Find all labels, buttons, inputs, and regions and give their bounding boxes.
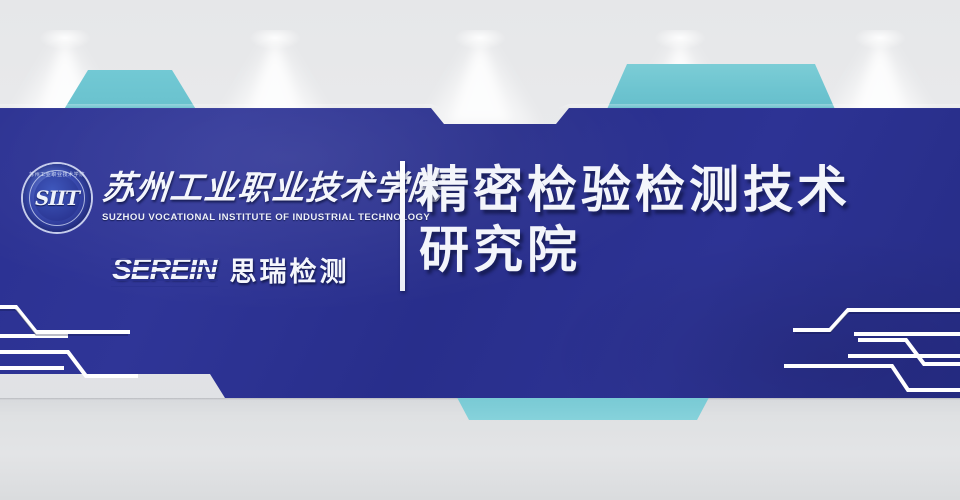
university-name-cn: 苏州工业职业技术学院 xyxy=(100,166,394,210)
headline-line-2: 研究院 xyxy=(419,220,949,280)
serein-name-cn: 思瑞检测 xyxy=(230,250,350,289)
backdrop-scene: 苏州工业职业技术学院 SIIT 苏州工业职业技术学院 SUZHOU VOCATI… xyxy=(0,0,960,500)
emblem-monogram: SIIT xyxy=(23,186,91,210)
emblem-arc-top: 苏州工业职业技术学院 xyxy=(23,171,91,178)
vertical-divider-bar xyxy=(400,161,405,291)
university-name-en: SUZHOU VOCATIONAL INSTITUTE OF INDUSTRIA… xyxy=(102,212,402,223)
serein-brand-lockup: SEREIN思瑞检测 xyxy=(112,250,392,288)
university-emblem-icon: 苏州工业职业技术学院 SIIT xyxy=(23,164,91,232)
headline-title: 精密检验检测技术 研究院 xyxy=(419,160,949,280)
serein-wordmark: SEREIN xyxy=(112,253,217,287)
logo-lockup: 苏州工业职业技术学院 SIIT 苏州工业职业技术学院 SUZHOU VOCATI… xyxy=(18,158,390,296)
headline-line-1: 精密检验检测技术 xyxy=(419,160,949,220)
